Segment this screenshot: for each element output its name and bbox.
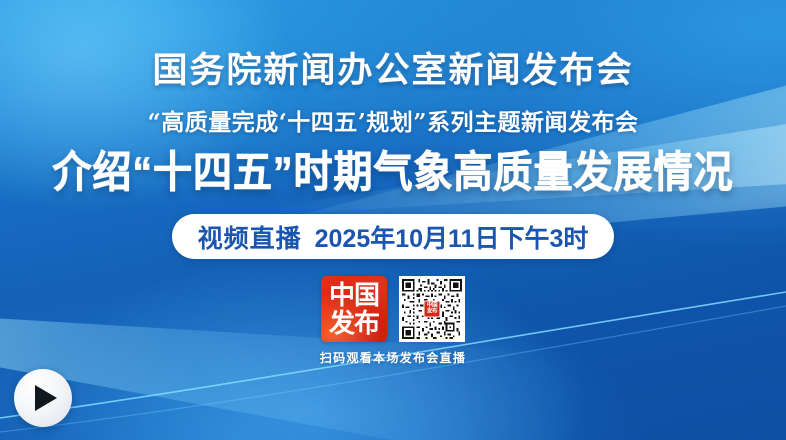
china-release-logo: 中国 发布 bbox=[321, 276, 387, 342]
broadcast-info-pill: 视频直播 2025年10月11日下午3时 bbox=[172, 214, 615, 259]
play-triangle-icon bbox=[35, 385, 57, 411]
broadcast-datetime: 2025年10月11日下午3时 bbox=[315, 219, 589, 255]
qr-center-badge: 中国 发布 bbox=[424, 301, 441, 318]
qr-code[interactable]: 中国 发布 bbox=[399, 276, 465, 342]
qr-badge-line-two: 发布 bbox=[427, 309, 437, 315]
play-button[interactable] bbox=[14, 369, 72, 427]
broadcast-poster: 国务院新闻办公室新闻发布会 “高质量完成‘十四五’规划”系列主题新闻发布会 介绍… bbox=[0, 0, 786, 440]
brand-and-qr-row: 中国 发布 bbox=[321, 276, 465, 342]
topic-headline: 介绍“十四五”时期气象高质量发展情况 bbox=[52, 152, 733, 197]
broadcast-mode-label: 视频直播 bbox=[198, 219, 302, 255]
series-subtitle: “高质量完成‘十四五’规划”系列主题新闻发布会 bbox=[148, 110, 639, 135]
scan-caption: 扫码观看本场发布会直播 bbox=[320, 349, 466, 366]
logo-line-two: 发布 bbox=[329, 310, 379, 336]
logo-line-one: 中国 bbox=[329, 282, 379, 308]
page-title: 国务院新闻办公室新闻发布会 bbox=[152, 52, 633, 90]
poster-content: 国务院新闻办公室新闻发布会 “高质量完成‘十四五’规划”系列主题新闻发布会 介绍… bbox=[0, 0, 786, 440]
